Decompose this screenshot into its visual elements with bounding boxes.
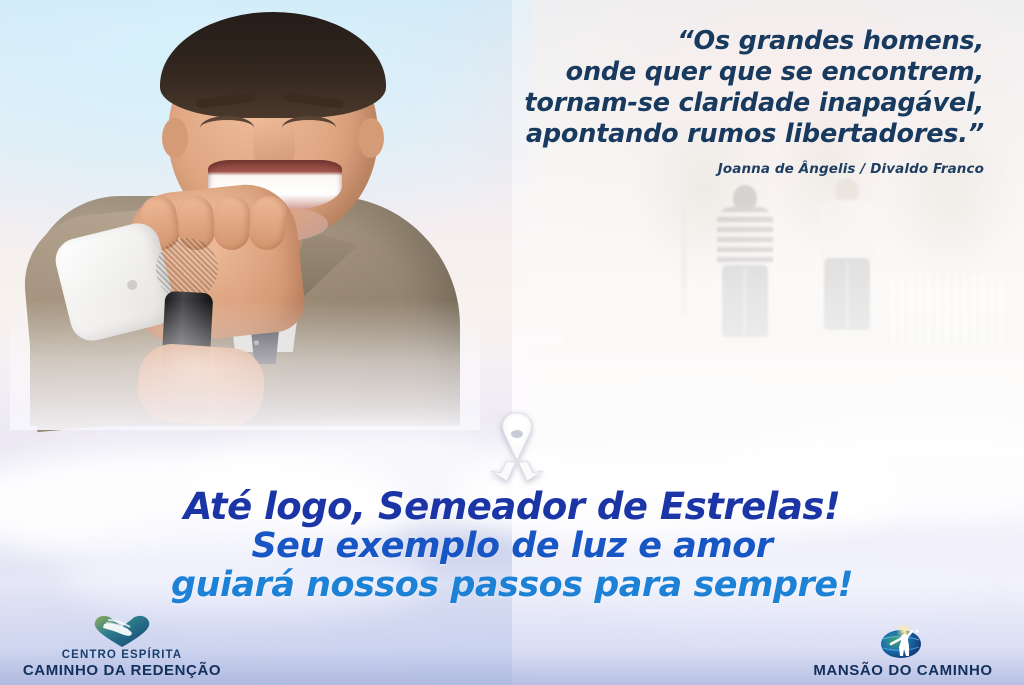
figure-legs	[722, 265, 768, 337]
ear-left	[162, 118, 188, 158]
fingers	[138, 196, 298, 252]
headline-line-2: Seu exemplo de luz e amor	[0, 527, 1024, 566]
quote-line-2: onde quer que se encontrem,	[424, 57, 984, 88]
background-figure-white-shirt	[819, 178, 875, 332]
quote-attribution: Joanna de Ângelis / Divaldo Franco	[424, 161, 984, 177]
globe-figure-icon	[788, 625, 1018, 659]
quote-line-3: tornam-se claridade inapagável,	[424, 88, 984, 119]
headline-line-1: Até logo, Semeador de Estrelas!	[0, 486, 1024, 527]
figure-head	[733, 185, 757, 211]
quote-block: “Os grandes homens, onde quer que se enc…	[424, 26, 984, 177]
logo-left-line-1: CENTRO ESPÍRITA	[12, 649, 232, 661]
quote-line-4: apontando rumos libertadores.”	[424, 119, 984, 150]
background-figure-striped-shirt	[717, 185, 773, 337]
portrait-photo	[10, 0, 480, 420]
heart-hands-icon	[12, 614, 232, 648]
memorial-poster: “Os grandes homens, onde quer que se enc…	[0, 0, 1024, 685]
hair	[160, 12, 386, 118]
quote-line-1: “Os grandes homens,	[424, 26, 984, 57]
mourning-ribbon-icon	[487, 411, 547, 483]
ear-right	[358, 118, 384, 158]
logo-right-line-1: MANSÃO DO CAMINHO	[788, 662, 1018, 679]
figure-head	[835, 178, 859, 204]
logo-mansao-do-caminho: MANSÃO DO CAMINHO	[788, 625, 1018, 679]
figure-legs	[824, 258, 870, 330]
background-gate	[891, 274, 1004, 356]
figure-torso	[717, 207, 773, 267]
headline-line-3: guiará nossos passos para sempre!	[0, 566, 1024, 605]
background-wall	[563, 288, 1024, 350]
logo-left-line-2: CAMINHO DA REDENÇÃO	[12, 662, 232, 679]
portrait-fade-overlay	[10, 300, 480, 430]
background-ground	[532, 343, 1024, 494]
figure-torso	[819, 200, 875, 260]
microphone-head	[156, 238, 218, 300]
logo-centro-espirita: CENTRO ESPÍRITA CAMINHO DA REDENÇÃO	[12, 614, 232, 679]
headline-block: Até logo, Semeador de Estrelas! Seu exem…	[0, 486, 1024, 605]
